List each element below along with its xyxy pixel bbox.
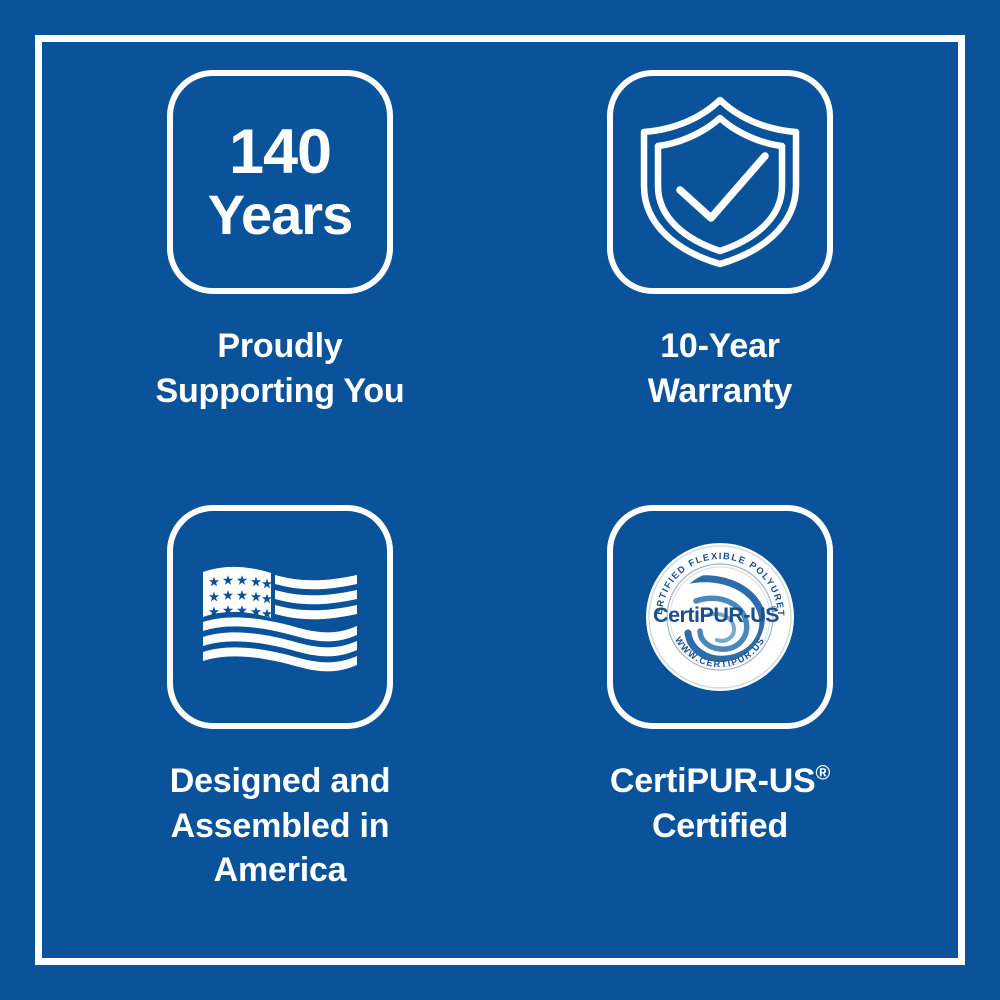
certipur-wordmark-registered: ® [771,605,777,614]
feature-label-certipur-line1: CertiPUR-US [610,762,816,800]
feature-item-america: Designed and Assembled in America [60,505,500,940]
years-badge-text: 140 Years [208,120,353,244]
feature-label-warranty-line1: 10-Year [660,327,780,365]
infographic-panel: 140 Years Proudly Supporting You [0,0,1000,1000]
feature-label-years: Proudly Supporting You [155,324,404,413]
feature-label-warranty: 10-Year Warranty [648,324,793,413]
certipur-icon-box: CONTAINS CERTIFIED FLEXIBLE POLYURETHANE… [607,505,833,729]
shield-check-icon [635,94,805,270]
america-icon-box [167,505,393,729]
feature-label-years-line2: Supporting You [155,372,404,410]
feature-label-america-line2: Assembled in [171,807,390,845]
warranty-icon-box [607,70,833,294]
feature-item-years: 140 Years Proudly Supporting You [60,70,500,505]
feature-grid: 140 Years Proudly Supporting You [60,70,940,940]
140-years-badge-icon: 140 Years [167,70,393,294]
feature-label-america-line3: America [214,851,347,889]
feature-label-america-line1: Designed and [170,762,391,800]
usa-flag-icon [199,562,361,672]
feature-item-warranty: 10-Year Warranty [500,70,940,505]
years-number: 140 [208,120,353,186]
feature-label-certipur: CertiPUR-US® Certified [610,759,830,848]
feature-label-years-line1: Proudly [217,327,342,365]
feature-label-america: Designed and Assembled in America [170,759,391,893]
certipur-us-seal-icon: CONTAINS CERTIFIED FLEXIBLE POLYURETHANE… [644,541,796,693]
certipur-wordmark: CertiPUR-US [653,603,779,627]
feature-label-warranty-line2: Warranty [648,372,793,410]
feature-item-certipur: CONTAINS CERTIFIED FLEXIBLE POLYURETHANE… [500,505,940,940]
registered-trademark-icon: ® [816,763,831,785]
feature-label-certipur-line2: Certified [652,807,788,845]
years-word: Years [208,186,353,244]
